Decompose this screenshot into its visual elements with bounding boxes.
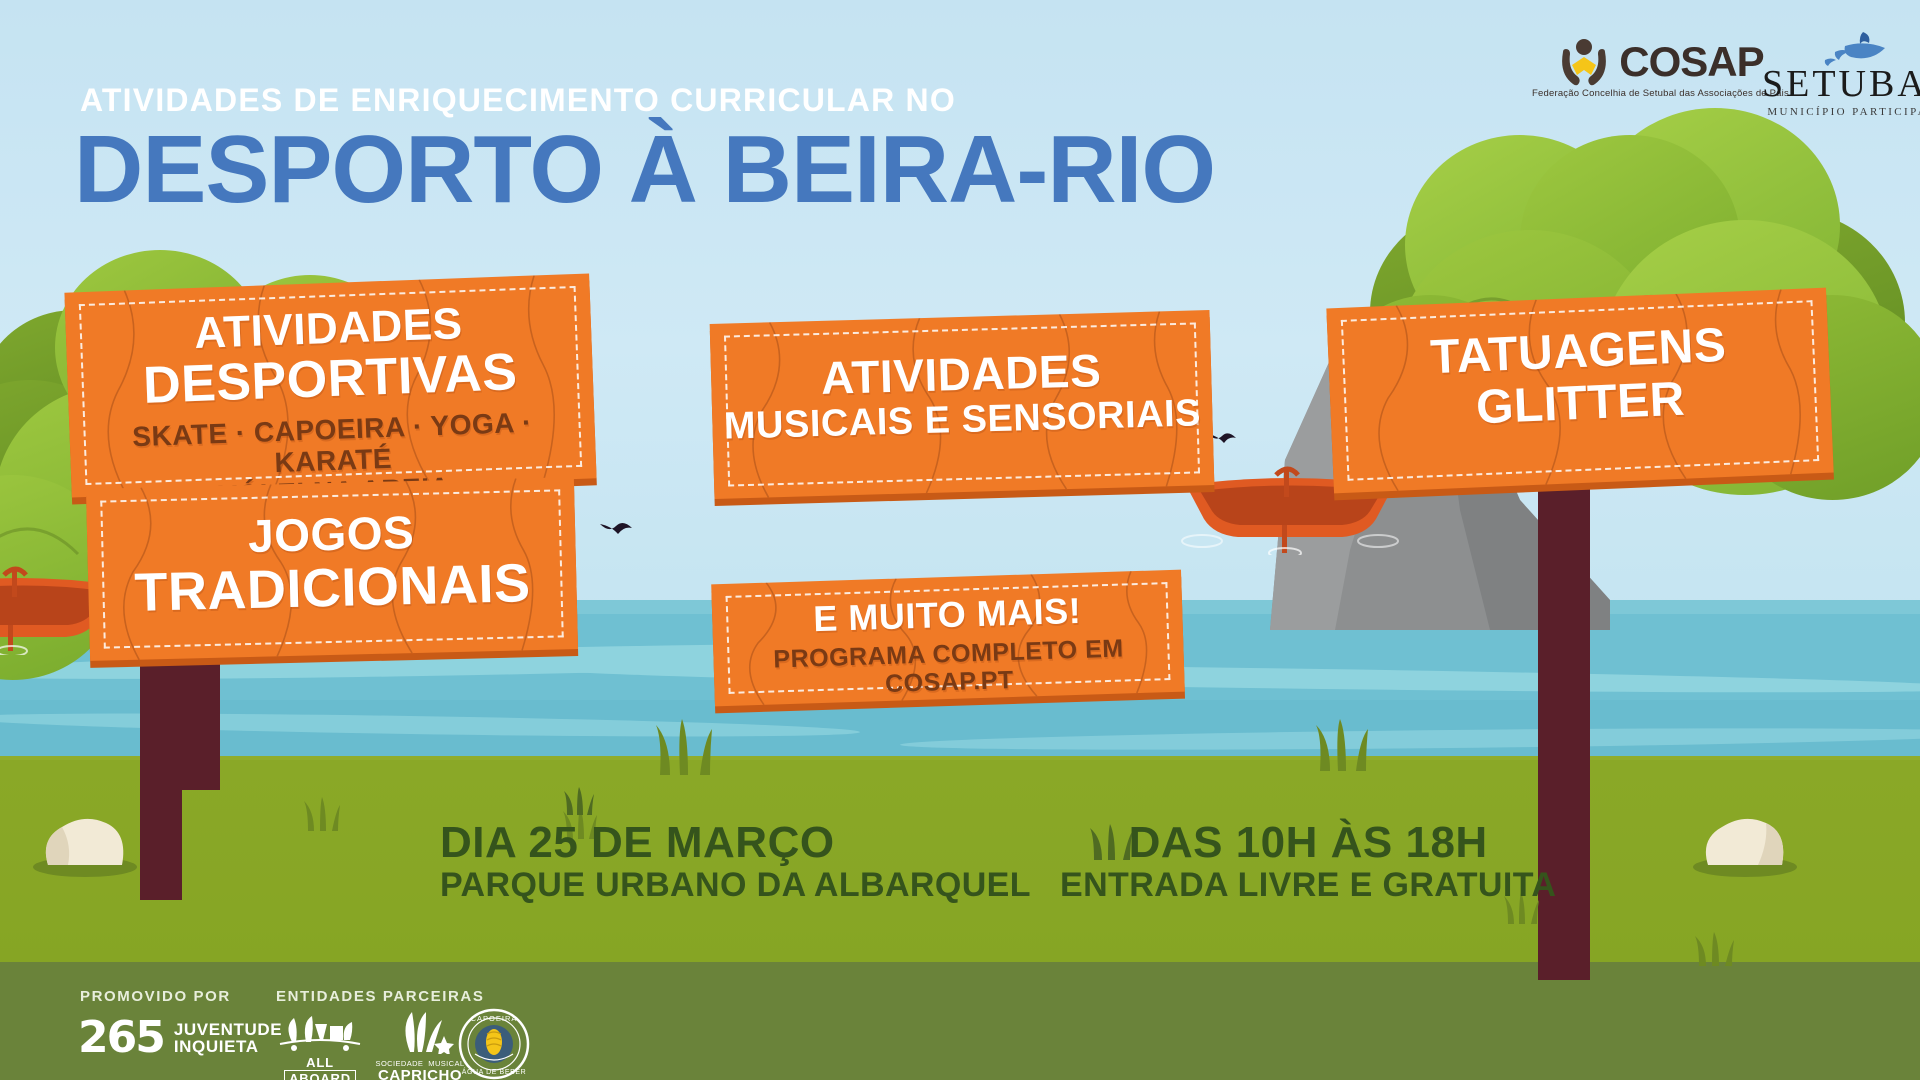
promoter-number: 265 — [78, 1012, 164, 1063]
footer-promoted-label: PROMOVIDO POR — [80, 988, 231, 1006]
logo-all-aboard: ALL ABOARD — [272, 1010, 368, 1080]
logo-setubal: SETUBAL MUNICÍPIO PARTICIPADO — [1762, 30, 1920, 118]
event-info-right: DAS 10H ÀS 18H ENTRADA LIVRE E GRATUITA — [1060, 820, 1556, 905]
setubal-wordmark: SETUBAL — [1762, 62, 1920, 106]
cosap-wordmark: COSAP — [1619, 38, 1763, 86]
cosap-tagline: Federação Concelhia de Setubal das Assoc… — [1532, 88, 1789, 99]
event-info-left: DIA 25 DE MARÇO PARQUE URBANO DA ALBARQU… — [440, 820, 1031, 905]
svg-text:ÁGUA DE BEBER: ÁGUA DE BEBER — [462, 1067, 527, 1076]
setubal-wave-icon — [1823, 30, 1893, 66]
all-aboard-line1: ALL — [272, 1055, 368, 1070]
logo-cosap: COSAP Federação Concelhia de Setubal das… — [1532, 38, 1789, 99]
poster-canvas: ATIVIDADES DE ENRIQUECIMENTO CURRICULAR … — [0, 0, 1920, 1080]
event-admission: ENTRADA LIVRE E GRATUITA — [1060, 866, 1556, 905]
promoter-name-line2: INQUIETA — [174, 1038, 282, 1055]
partners-label-text: ENTIDADES PARCEIRAS — [276, 988, 484, 1005]
promoter-name-line1: JUVENTUDE — [174, 1021, 282, 1038]
cosap-mark-icon — [1557, 38, 1611, 86]
all-aboard-line2: ABOARD — [284, 1070, 356, 1080]
grass-tuft — [1310, 715, 1374, 771]
grass-tuft — [300, 795, 344, 831]
sign-atividades-musicais[interactable]: ATIVIDADES MUSICAIS E SENSORIAIS — [710, 310, 1215, 499]
capricho-mark-icon — [372, 1010, 468, 1054]
grass-tuft — [560, 785, 596, 815]
sign-atividades-desportivas[interactable]: ATIVIDADES DESPORTIVAS SKATE · CAPOEIRA … — [64, 273, 596, 497]
sign-sub-1: PROGRAMA COMPLETO EM COSAP.PT — [713, 634, 1184, 704]
logo-265-juventude-inquieta: 265 JUVENTUDE INQUIETA — [78, 1012, 282, 1063]
stone — [30, 805, 140, 877]
sign-tatuagens-glitter[interactable]: TATUAGENS GLITTER — [1326, 288, 1833, 494]
event-place: PARQUE URBANO DA ALBARQUEL — [440, 866, 1031, 905]
setubal-tagline: MUNICÍPIO PARTICIPADO — [1767, 106, 1920, 118]
footer-partners-label: ENTIDADES PARCEIRAS — [276, 988, 484, 1006]
grass-tuft — [650, 715, 720, 775]
page-title: DESPORTO À BEIRA-RIO — [74, 122, 1215, 218]
stone — [1690, 805, 1800, 877]
capricho-line1: CAPRICHO — [372, 1068, 468, 1080]
grass-tuft — [1690, 930, 1738, 966]
event-date: DIA 25 DE MARÇO — [440, 820, 1031, 866]
sign-jogos-tradicionais[interactable]: JOGOS TRADICIONAIS — [86, 477, 578, 661]
promoted-label-text: PROMOVIDO POR — [80, 988, 231, 1005]
sign-e-muito-mais[interactable]: E MUITO MAIS! PROGRAMA COMPLETO EM COSAP… — [711, 570, 1185, 707]
logo-capricho-setubalense: SOCIEDADE MUSICAL CAPRICHO SETUBALENSE — [372, 1010, 468, 1080]
bird-icon — [598, 520, 634, 542]
capoeira-seal-icon: CAPOEIRA ÁGUA DE BEBER — [458, 1008, 530, 1080]
event-hours: DAS 10H ÀS 18H — [1060, 820, 1556, 866]
all-aboard-mark-icon — [272, 1010, 368, 1052]
logo-capoeira-agua-de-beber: CAPOEIRA ÁGUA DE BEBER — [458, 1008, 530, 1080]
svg-text:CAPOEIRA: CAPOEIRA — [471, 1014, 518, 1023]
page-kicker: ATIVIDADES DE ENRIQUECIMENTO CURRICULAR … — [80, 82, 956, 119]
sign-line-2: TRADICIONAIS — [88, 555, 577, 621]
